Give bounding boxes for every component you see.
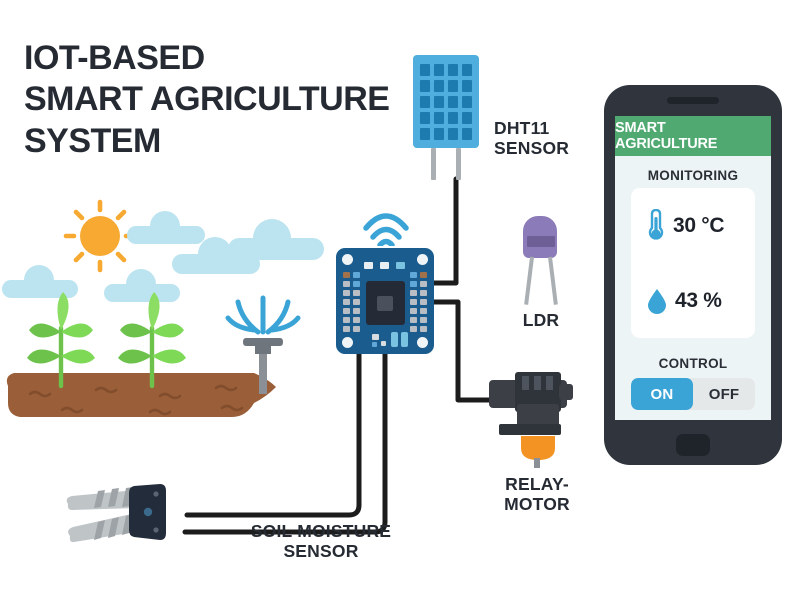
toggle-off-button[interactable]: OFF <box>693 378 755 410</box>
dht11-pin <box>431 148 436 180</box>
sensor-probe <box>67 487 136 510</box>
mounting-hole <box>342 337 353 348</box>
pump-control-toggle[interactable]: ON OFF <box>631 378 755 410</box>
mounting-hole <box>417 254 428 265</box>
humidity-value: 43 % <box>675 289 722 313</box>
mounting-hole <box>342 254 353 265</box>
phone-speaker <box>667 97 719 104</box>
wire-board-to-relay <box>434 302 489 400</box>
dht11-vent-grid <box>420 64 472 140</box>
phone-screen: SMART AGRICULTURE MONITORING 30 °C <box>615 116 771 420</box>
water-drop-icon <box>648 288 666 314</box>
ldr-sensor <box>513 216 569 324</box>
relay-motor-label: RELAY- MOTOR <box>483 474 591 515</box>
sensor-probe <box>68 513 136 542</box>
dht11-label: DHT11 SENSOR <box>494 118 569 159</box>
wire-board-to-soil-outer <box>187 354 359 515</box>
chip-core <box>377 296 393 311</box>
pin-header-left <box>343 272 360 332</box>
board-led <box>396 262 405 269</box>
ldr-label: LDR <box>496 310 586 330</box>
soil-moisture-sensor <box>60 478 190 544</box>
infographic-canvas: IOT-BASED SMART AGRICULTURE SYSTEM <box>0 0 800 600</box>
ldr-leg <box>548 257 558 305</box>
board-smd <box>372 334 379 340</box>
ldr-leg <box>524 257 534 305</box>
wifi-signal-icon <box>360 206 412 246</box>
toggle-on-button[interactable]: ON <box>631 378 693 410</box>
humidity-reading: 43 % <box>631 263 755 338</box>
relay-motor <box>487 364 583 468</box>
monitoring-card: 30 °C 43 % <box>631 188 755 338</box>
soil-moisture-sensor-label: SOIL MOISTURE SENSOR <box>230 521 412 562</box>
control-section-title: CONTROL <box>615 356 771 371</box>
board-led <box>364 262 373 269</box>
wire-board-to-dht11 <box>434 179 456 283</box>
monitoring-section-title: MONITORING <box>615 168 771 183</box>
temperature-reading: 30 °C <box>631 188 755 263</box>
temperature-value: 30 °C <box>673 214 724 238</box>
app-header: SMART AGRICULTURE <box>615 116 771 156</box>
board-smd <box>372 342 377 347</box>
board-smd <box>381 341 386 346</box>
pin-header-right <box>410 272 427 332</box>
phone-home-button[interactable] <box>676 434 710 456</box>
board-capacitor <box>391 332 398 347</box>
microcontroller-board <box>336 248 434 354</box>
board-capacitor <box>401 332 408 347</box>
board-chip <box>366 281 405 325</box>
dht11-pin <box>456 148 461 180</box>
dht11-sensor <box>413 55 485 180</box>
mounting-hole <box>417 337 428 348</box>
wire-board-to-soil-inner <box>185 354 385 532</box>
smartphone: SMART AGRICULTURE MONITORING 30 °C <box>604 85 782 465</box>
thermometer-icon <box>648 209 664 243</box>
app-title: SMART AGRICULTURE <box>615 120 771 152</box>
ldr-sensing-band <box>527 236 555 247</box>
board-led <box>380 262 389 269</box>
